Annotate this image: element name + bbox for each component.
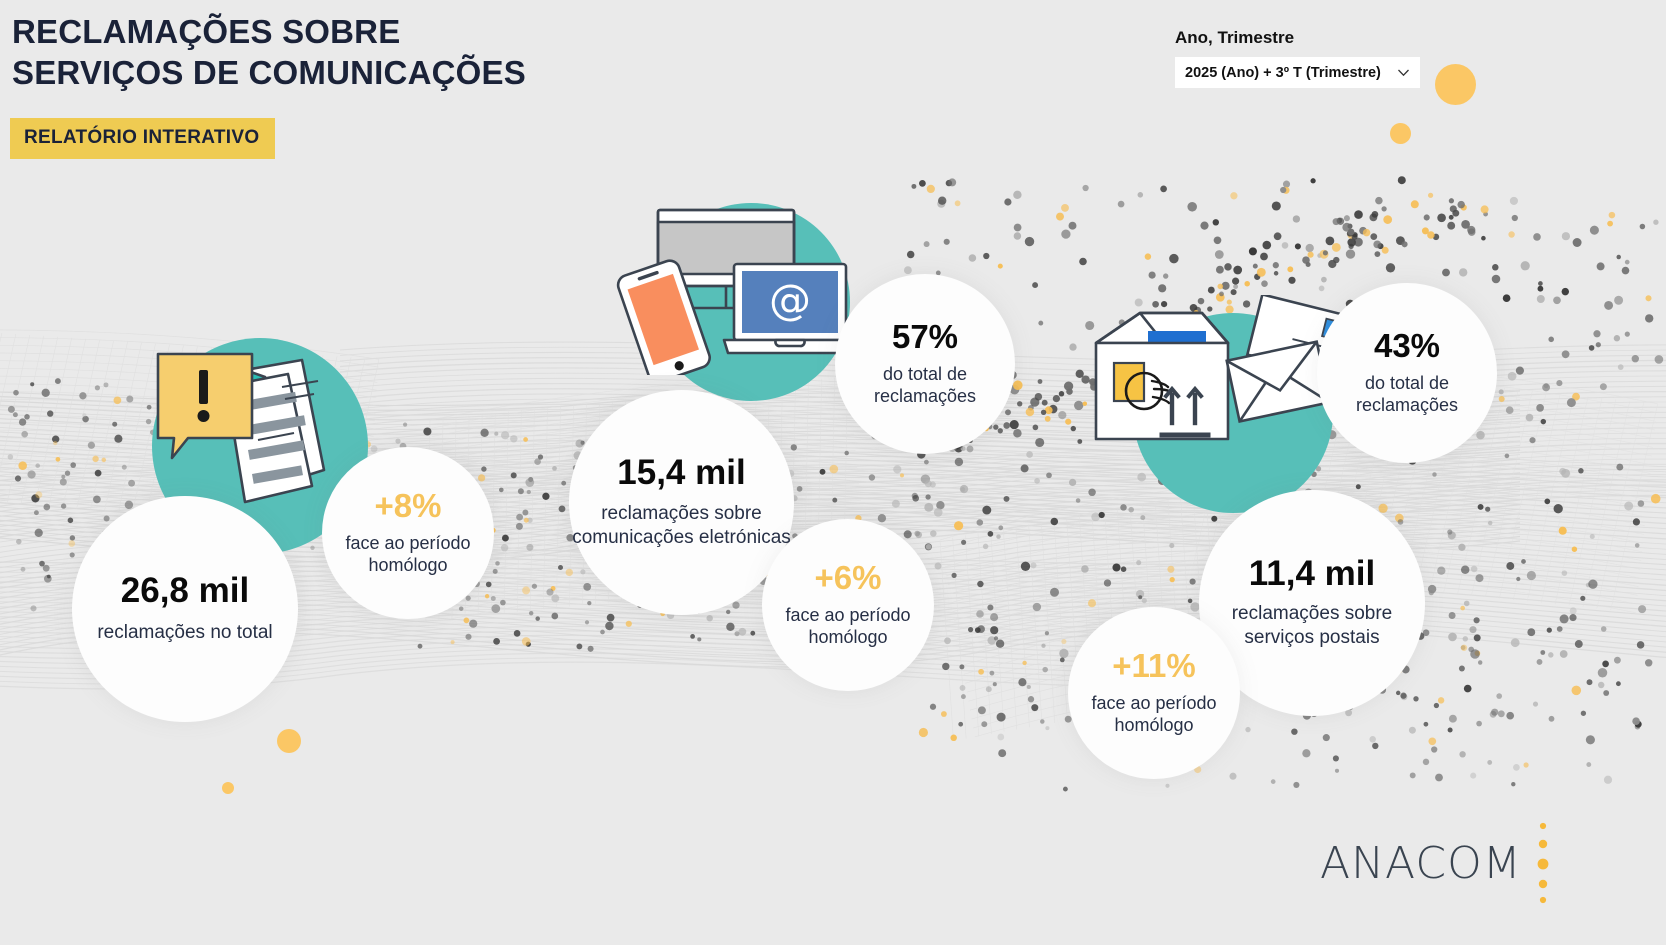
decorative-dot-large [1435, 64, 1476, 105]
period-slicer: Ano, Trimestre 2025 (Ano) + 3º T (Trimes… [1175, 28, 1420, 88]
period-dropdown-value: 2025 (Ano) + 3º T (Trimestre) [1185, 65, 1381, 81]
anacom-logo: ANACOM [1320, 820, 1550, 906]
chevron-down-icon[interactable] [1396, 65, 1411, 80]
kpi-electronic-complaints: 15,4 mil reclamações sobre comunicações … [569, 390, 794, 615]
kpi-postal-value: 11,4 mil [1249, 556, 1375, 592]
kpi-postal-change: +11% face ao período homólogo [1068, 607, 1240, 779]
page-title-line1: RECLAMAÇÕES SOBRE [12, 12, 526, 53]
kpi-postal-change-caption: face ao período homólogo [1068, 692, 1240, 737]
kpi-postal-change-value: +11% [1112, 649, 1196, 683]
kpi-total-value: 26,8 mil [121, 573, 249, 609]
anacom-dots-icon [1536, 820, 1550, 906]
kpi-total-change-caption: face ao período homólogo [322, 532, 494, 577]
kpi-postal-caption: reclamações sobre serviços postais [1199, 602, 1425, 650]
page-title-line2: SERVIÇOS DE COMUNICAÇÕES [12, 53, 526, 94]
decorative-dot-small [1390, 123, 1411, 144]
kpi-electronic-change-value: +6% [815, 561, 882, 595]
page-title: RECLAMAÇÕES SOBRE SERVIÇOS DE COMUNICAÇÕ… [12, 12, 526, 94]
complaint-document-icon [142, 330, 352, 520]
parcel-mail-icon [1080, 295, 1340, 455]
kpi-electronic-change: +6% face ao período homólogo [762, 519, 934, 691]
kpi-electronic-share: 57% do total de reclamações [835, 274, 1015, 454]
kpi-electronic-share-caption: do total de reclamações [835, 363, 1015, 408]
kpi-total-change: +8% face ao período homólogo [322, 447, 494, 619]
slicer-label: Ano, Trimestre [1175, 28, 1420, 48]
kpi-postal-share-caption: do total de reclamações [1317, 372, 1497, 417]
infographic-page: RECLAMAÇÕES SOBRE SERVIÇOS DE COMUNICAÇÕ… [0, 0, 1666, 945]
kpi-electronic-value: 15,4 mil [617, 455, 745, 491]
kpi-total-caption: reclamações no total [97, 621, 272, 645]
kpi-total-change-value: +8% [375, 489, 442, 523]
kpi-total-complaints: 26,8 mil reclamações no total [72, 496, 298, 722]
decorative-dot-bottom-left [277, 729, 301, 753]
kpi-postal-share: 43% do total de reclamações [1317, 283, 1497, 463]
kpi-electronic-caption: reclamações sobre comunicações eletrónic… [569, 502, 794, 550]
kpi-electronic-change-caption: face ao período homólogo [762, 604, 934, 649]
decorative-dot-bottom-left-small [222, 782, 234, 794]
devices-icon: @ [604, 200, 860, 375]
svg-text:@: @ [769, 275, 811, 324]
kpi-electronic-share-value: 57% [892, 320, 958, 354]
report-type-badge: RELATÓRIO INTERATIVO [10, 118, 275, 159]
anacom-logo-text: ANACOM [1320, 838, 1522, 889]
period-dropdown[interactable]: 2025 (Ano) + 3º T (Trimestre) [1175, 57, 1420, 88]
kpi-postal-share-value: 43% [1374, 329, 1440, 363]
